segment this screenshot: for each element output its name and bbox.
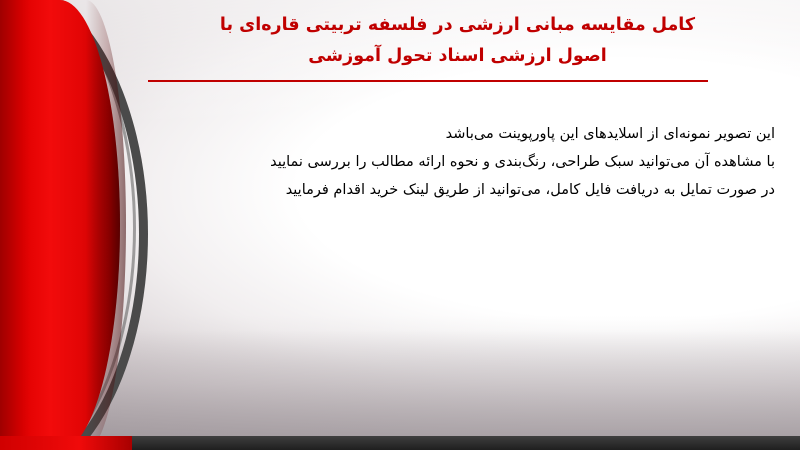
left-red-panel — [0, 0, 120, 450]
title-line-2: اصول ارزشی اسناد تحول آموزشی — [130, 41, 785, 72]
body-line-2: با مشاهده آن می‌توانید سبک طراحی، رنگ‌بن… — [120, 148, 775, 176]
slide-body: این تصویر نمونه‌ای از اسلایدهای این پاور… — [120, 120, 785, 204]
body-line-3: در صورت تمایل به دریافت فایل کامل، می‌تو… — [120, 176, 775, 204]
body-line-1: این تصویر نمونه‌ای از اسلایدهای این پاور… — [120, 120, 775, 148]
slide-title: کامل مقایسه مبانی ارزشی در فلسفه تربیتی … — [130, 10, 785, 72]
slide: کامل مقایسه مبانی ارزشی در فلسفه تربیتی … — [0, 0, 800, 450]
bottom-red-strip — [0, 436, 132, 450]
title-line-1: کامل مقایسه مبانی ارزشی در فلسفه تربیتی … — [130, 10, 785, 41]
title-underline — [148, 80, 708, 82]
